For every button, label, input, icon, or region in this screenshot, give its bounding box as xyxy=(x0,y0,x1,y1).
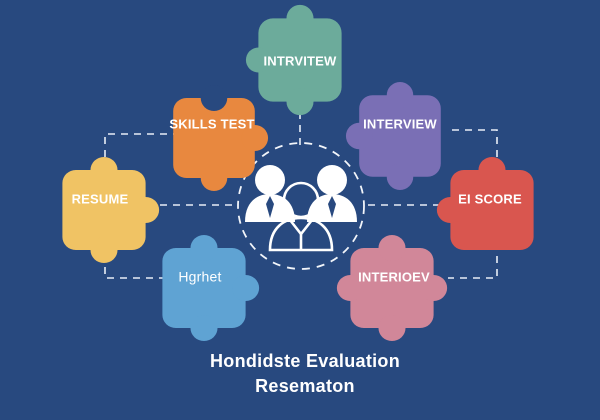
puzzle-label-skills-test: SKILLS TEST xyxy=(169,116,254,131)
three-people-group-icon xyxy=(245,165,357,250)
puzzle-piece-skills-test[interactable]: SKILLS TEST xyxy=(169,85,268,191)
puzzle-shape-interioev xyxy=(337,235,447,341)
puzzle-piece-interioev[interactable]: INTERIOEV xyxy=(337,235,447,341)
puzzle-piece-intrvitew[interactable]: INTRVITEW xyxy=(246,5,342,115)
infographic-canvas: INTRVITEW SKILLS TEST INTERVIEW xyxy=(0,0,600,420)
puzzle-shape-skills-test xyxy=(173,85,268,191)
puzzle-label-interioev: INTERIOEV xyxy=(358,269,430,284)
puzzle-label-resume: RESUME xyxy=(72,191,129,206)
puzzle-piece-resume[interactable]: RESUME xyxy=(62,157,159,263)
puzzle-label-interview: INTERVIEW xyxy=(363,116,437,131)
puzzle-shape-interview xyxy=(346,82,441,190)
puzzle-piece-hgrhet[interactable]: Hgrhet xyxy=(162,235,259,341)
puzzle-piece-interview[interactable]: INTERVIEW xyxy=(346,82,441,190)
connector-eiscore-interioev xyxy=(448,256,497,278)
puzzle-diagram: INTRVITEW SKILLS TEST INTERVIEW xyxy=(0,0,600,420)
diagram-title-line-2: Resematon xyxy=(255,376,355,396)
puzzle-piece-ei-score[interactable]: EI SCORE xyxy=(437,157,534,250)
puzzle-label-hgrhet: Hgrhet xyxy=(178,269,221,285)
puzzle-shape-hgrhet xyxy=(162,235,259,341)
puzzle-label-ei-score: EI SCORE xyxy=(458,191,522,206)
puzzle-label-intrvitew: INTRVITEW xyxy=(263,53,337,68)
puzzle-shape-resume xyxy=(62,157,159,263)
diagram-title-line-1: Hondidste Evaluation xyxy=(210,351,400,371)
